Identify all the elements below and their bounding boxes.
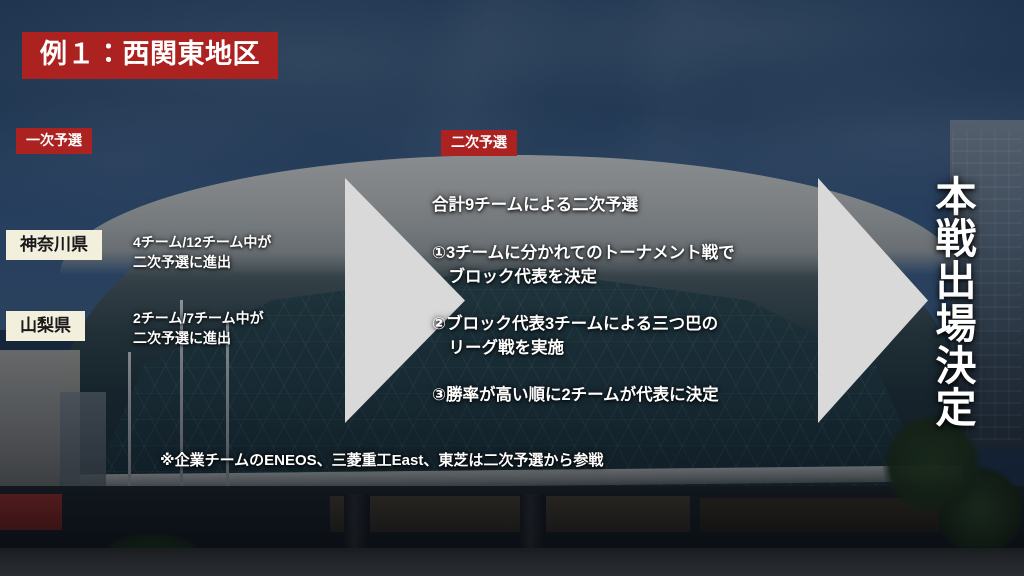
- stage-tag-primary: 一次予選: [16, 128, 92, 154]
- second-stage-item-2: ②ブロック代表3チームによる三つ巴の リーグ戦を実施: [432, 313, 814, 360]
- second-stage-text-block: 合計9チームによる二次予選 ①3チームに分かれてのトーナメント戦で ブロック代表…: [432, 194, 814, 432]
- prefecture-label-kanagawa: 神奈川県: [6, 230, 102, 260]
- result-char-6: 定: [925, 387, 987, 429]
- prefecture-note-kanagawa: 4チーム/12チーム中が 二次予選に進出: [133, 232, 271, 273]
- prefecture-note-yamanashi: 2チーム/7チーム中が 二次予選に進出: [133, 308, 264, 349]
- result-char-5: 決: [925, 345, 987, 387]
- result-char-1: 本: [925, 176, 987, 218]
- prefecture-label-yamanashi: 山梨県: [6, 311, 85, 341]
- stage-tag-secondary: 二次予選: [441, 130, 517, 156]
- slide-canvas: 例１：西関東地区 一次予選 二次予選 神奈川県 4チーム/12チーム中が 二次予…: [0, 0, 1024, 576]
- footnote-text: ※企業チームのENEOS、三菱重工East、東芝は二次予選から参戦: [160, 449, 603, 470]
- second-stage-heading: 合計9チームによる二次予選: [432, 194, 814, 217]
- result-char-3: 出: [925, 260, 987, 302]
- final-result-vertical-text: 本 戦 出 場 決 定: [925, 176, 987, 429]
- result-char-2: 戦: [925, 218, 987, 260]
- result-char-4: 場: [925, 303, 987, 345]
- page-title: 例１：西関東地区: [22, 32, 278, 79]
- arrow-stage2-to-final-icon: [818, 178, 928, 423]
- slide-content-layer: 例１：西関東地区 一次予選 二次予選 神奈川県 4チーム/12チーム中が 二次予…: [0, 0, 1024, 576]
- second-stage-item-3: ③勝率が高い順に2チームが代表に決定: [432, 384, 814, 407]
- second-stage-item-1: ①3チームに分かれてのトーナメント戦で ブロック代表を決定: [432, 242, 814, 289]
